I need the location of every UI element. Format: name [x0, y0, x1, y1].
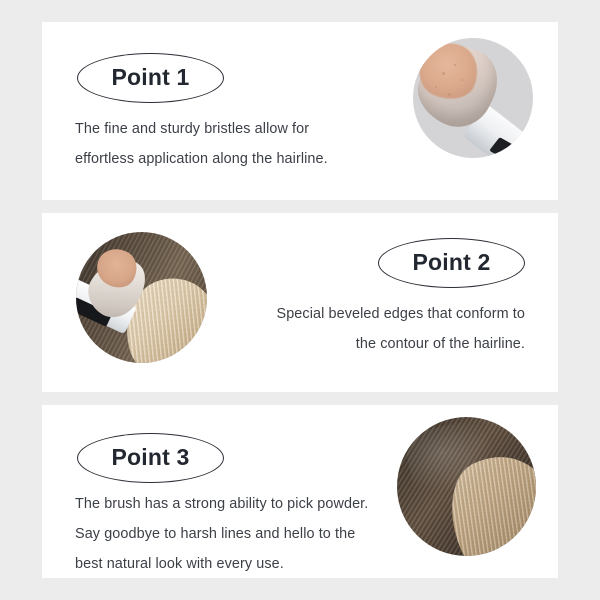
brush-powder-photo	[413, 38, 533, 158]
description-point-3-line-1: The brush has a strong ability to pick p…	[75, 489, 368, 519]
product-feature-board: Point 1 The fine and sturdy bristles all…	[0, 0, 600, 600]
badge-point-2-label: Point 2	[412, 251, 490, 274]
description-point-3-line-3: best natural look with every use.	[75, 549, 368, 579]
badge-point-1-label: Point 1	[111, 66, 189, 89]
description-point-1: The fine and sturdy bristles allow for e…	[75, 114, 328, 174]
description-point-2-line-1: Special beveled edges that conform to	[277, 299, 526, 329]
badge-point-3: Point 3	[77, 433, 224, 483]
feature-card-point-1: Point 1 The fine and sturdy bristles all…	[42, 22, 558, 200]
description-point-1-line-1: The fine and sturdy bristles allow for	[75, 114, 328, 144]
badge-point-3-label: Point 3	[111, 446, 189, 469]
powder-speck	[442, 72, 445, 75]
description-point-3-line-2: Say goodbye to harsh lines and hello to …	[75, 519, 368, 549]
badge-point-2: Point 2	[378, 238, 525, 288]
brush-on-hairline-photo	[76, 232, 207, 363]
badge-point-1: Point 1	[77, 53, 224, 103]
description-point-1-line-2: effortless application along the hairlin…	[75, 144, 328, 174]
feature-card-point-2: Point 2 Special beveled edges that confo…	[42, 213, 558, 392]
powder-speck	[435, 86, 437, 88]
hair-closeup-photo	[397, 417, 536, 556]
description-point-2: Special beveled edges that conform to th…	[277, 299, 526, 359]
powder-speck	[448, 93, 451, 96]
description-point-3: The brush has a strong ability to pick p…	[75, 489, 368, 579]
feature-card-point-3: Point 3 The brush has a strong ability t…	[42, 405, 558, 578]
description-point-2-line-2: the contour of the hairline.	[277, 329, 526, 359]
powder-speck	[461, 79, 463, 81]
